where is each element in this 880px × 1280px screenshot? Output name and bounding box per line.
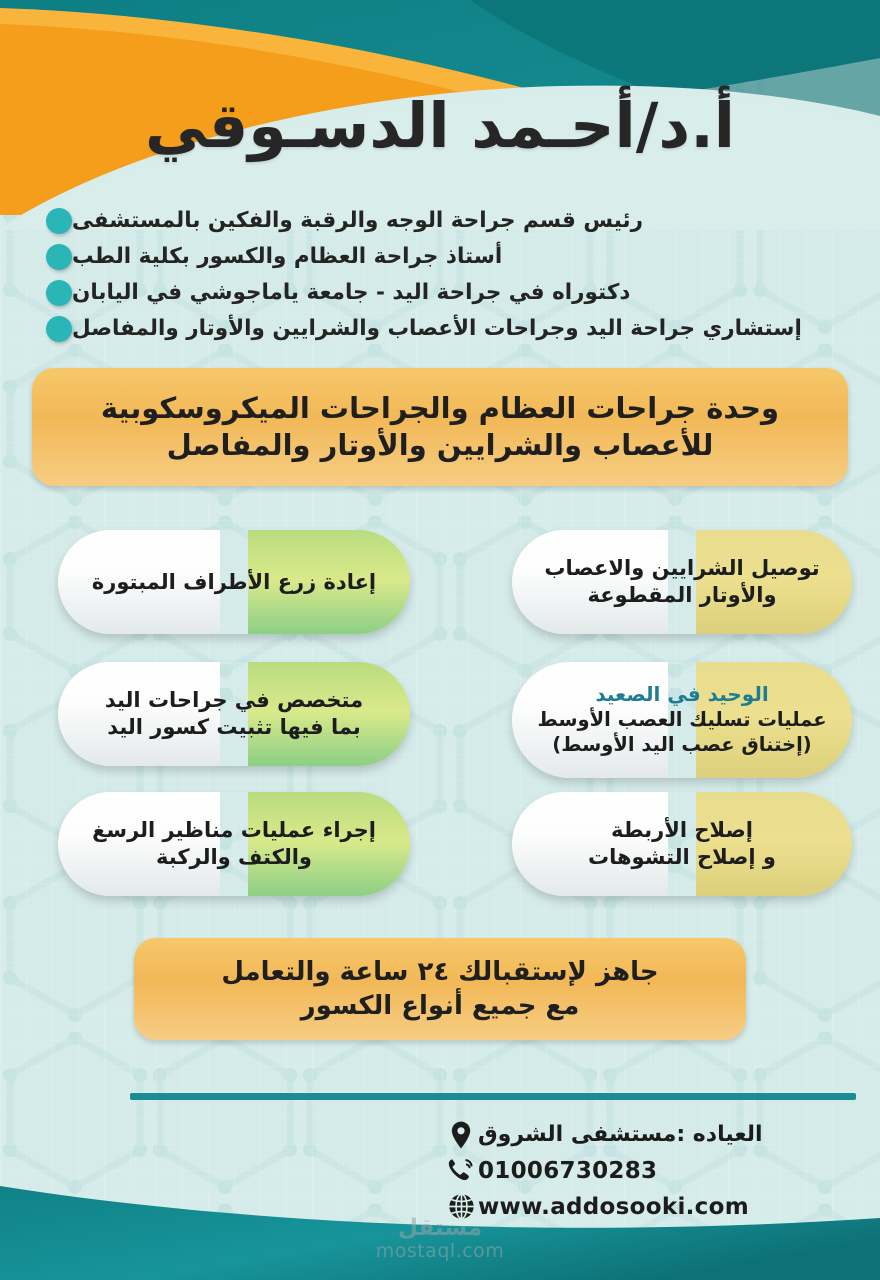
service-highlight: الوحيد في الصعيد <box>526 682 838 708</box>
credential-item: رئيس قسم جراحة الوجه والرقبة والفكين بال… <box>34 206 846 236</box>
service-pill-right-3[interactable]: إصلاح الأربطة و إصلاح التشوهات <box>512 792 852 896</box>
service-pill-text: إجراء عمليات مناظير الرسغ والكتف والركبة <box>58 817 410 871</box>
service-pill-text: إعادة زرع الأطراف المبتورة <box>58 569 410 596</box>
service-line2: بما فيها تثبيت كسور اليد <box>72 714 396 741</box>
location-pin-icon <box>444 1120 478 1150</box>
credential-item: إستشاري جراحة اليد وجراحات الأعصاب والشر… <box>34 314 846 344</box>
credential-text: أستاذ جراحة العظام والكسور بكلية الطب <box>72 244 502 270</box>
clinic-text: العياده :مستشفى الشروق <box>478 1122 763 1147</box>
service-pill-left-2[interactable]: متخصص في جراحات اليد بما فيها تثبيت كسور… <box>58 662 410 766</box>
credential-item: أستاذ جراحة العظام والكسور بكلية الطب <box>34 242 846 272</box>
unit-banner-line1: وحدة جراحات العظام والجراحات الميكروسكوب… <box>101 390 779 427</box>
availability-banner: جاهز لإستقبالك ٢٤ ساعة والتعامل مع جميع … <box>134 938 746 1040</box>
unit-banner-line2: للأعصاب والشرايين والأوتار والمفاصل <box>101 427 779 464</box>
service-line2: و إصلاح التشوهات <box>526 844 838 871</box>
availability-line1: جاهز لإستقبالك ٢٤ ساعة والتعامل <box>221 955 658 989</box>
poster-root: أ.د/أحـمد الدسـوقي رئيس قسم جراحة الوجه … <box>0 0 880 1280</box>
unit-banner: وحدة جراحات العظام والجراحات الميكروسكوب… <box>32 368 848 486</box>
credential-text: رئيس قسم جراحة الوجه والرقبة والفكين بال… <box>72 208 643 234</box>
service-line2: والأوتار المقطوعة <box>526 582 838 609</box>
footer-wave-decoration <box>0 1160 880 1280</box>
doctor-name-title: أ.د/أحـمد الدسـوقي <box>0 92 880 160</box>
service-line1: إصلاح الأربطة <box>526 817 838 844</box>
service-pill-text: الوحيد في الصعيد عمليات تسليك العصب الأو… <box>512 682 852 758</box>
service-line1: متخصص في جراحات اليد <box>72 687 396 714</box>
bullet-circle-icon <box>46 316 72 342</box>
service-pill-right-2[interactable]: الوحيد في الصعيد عمليات تسليك العصب الأو… <box>512 662 852 778</box>
credentials-list: رئيس قسم جراحة الوجه والرقبة والفكين بال… <box>34 206 846 350</box>
credential-text: دكتوراه في جراحة اليد - جامعة ياماجوشي ف… <box>72 280 630 306</box>
service-pill-text: توصيل الشرايين والاعصاب والأوتار المقطوع… <box>512 555 852 609</box>
bullet-circle-icon <box>46 208 72 234</box>
credential-text: إستشاري جراحة اليد وجراحات الأعصاب والشر… <box>72 316 802 342</box>
availability-line2: مع جميع أنواع الكسور <box>221 989 658 1023</box>
service-pill-text: متخصص في جراحات اليد بما فيها تثبيت كسور… <box>58 687 410 741</box>
service-line1: توصيل الشرايين والاعصاب <box>526 555 838 582</box>
service-line1: إعادة زرع الأطراف المبتورة <box>72 569 396 596</box>
footer-divider <box>130 1093 856 1100</box>
service-line2: والكتف والركبة <box>72 844 396 871</box>
service-pill-left-3[interactable]: إجراء عمليات مناظير الرسغ والكتف والركبة <box>58 792 410 896</box>
service-pill-left-1[interactable]: إعادة زرع الأطراف المبتورة <box>58 530 410 634</box>
service-line1: إجراء عمليات مناظير الرسغ <box>72 817 396 844</box>
credential-item: دكتوراه في جراحة اليد - جامعة ياماجوشي ف… <box>34 278 846 308</box>
bullet-circle-icon <box>46 244 72 270</box>
service-pill-text: إصلاح الأربطة و إصلاح التشوهات <box>512 817 852 871</box>
service-pill-right-1[interactable]: توصيل الشرايين والاعصاب والأوتار المقطوع… <box>512 530 852 634</box>
footer-row-clinic: العياده :مستشفى الشروق <box>436 1118 856 1151</box>
service-line1: عمليات تسليك العصب الأوسط <box>526 708 838 733</box>
bullet-circle-icon <box>46 280 72 306</box>
service-line2: (إختناق عصب اليد الأوسط) <box>526 733 838 758</box>
